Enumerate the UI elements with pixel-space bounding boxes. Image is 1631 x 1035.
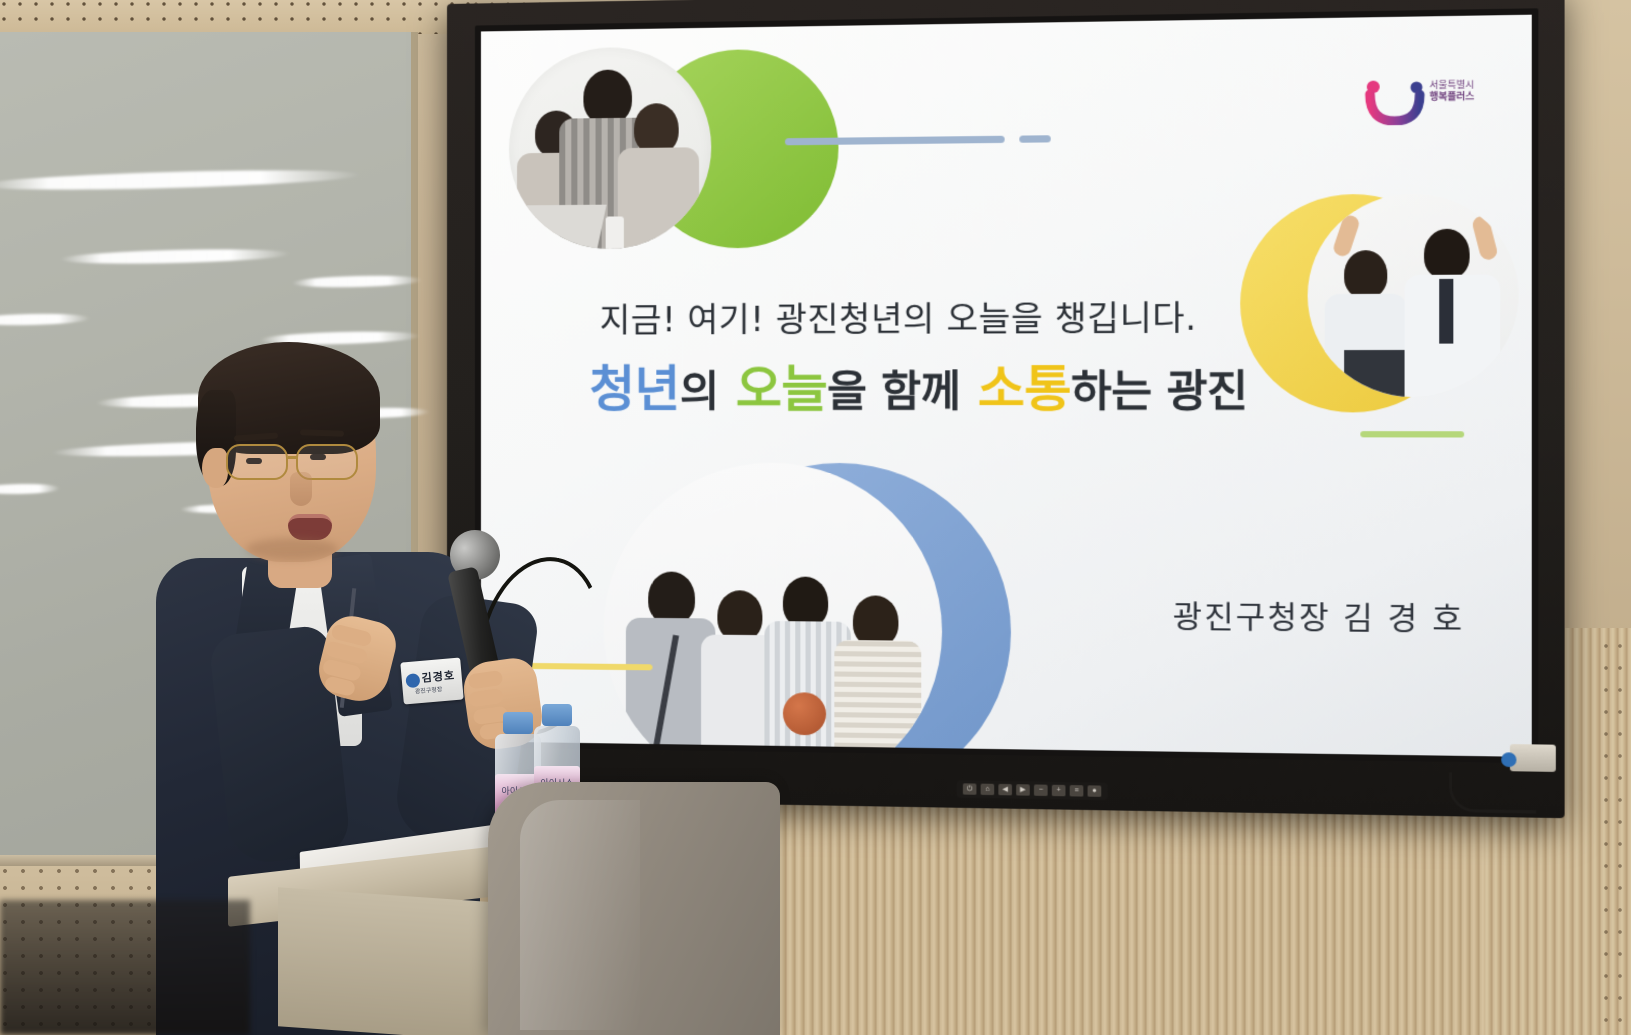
slide-title: 청년의 오늘을 함께 소통하는 광진 bbox=[589, 348, 1247, 421]
display-button-home[interactable]: ⌂ bbox=[981, 784, 995, 795]
seoul-logo: 서울특별시 행복플러스 bbox=[1365, 72, 1493, 132]
bottle-cap bbox=[542, 704, 572, 726]
photograph-scene: 서울특별시 행복플러스 지금! 여기! 광진청년의 오늘을 챙깁니다. 청년의 … bbox=[0, 0, 1631, 1035]
seoul-logo-text: 서울특별시 행복플러스 bbox=[1429, 80, 1492, 104]
attached-device bbox=[1510, 744, 1556, 772]
perforated-strip-right bbox=[1600, 640, 1631, 1035]
slide-title-part-6: 하는 광진 bbox=[1071, 366, 1248, 417]
badge-name: 김경호 bbox=[421, 667, 456, 686]
slide-title-part-2: 의 bbox=[680, 367, 719, 417]
chin-shadow bbox=[246, 538, 338, 560]
photo-circle-top-left bbox=[509, 46, 711, 250]
display-button-prev[interactable]: ◀ bbox=[998, 784, 1012, 795]
display-button-minus[interactable]: − bbox=[1034, 784, 1048, 796]
display-button-next[interactable]: ▶ bbox=[1016, 784, 1030, 795]
attached-device-indicator bbox=[1501, 752, 1516, 767]
bottle-cap bbox=[503, 712, 533, 734]
slide-title-part-4: 을 함께 bbox=[827, 366, 960, 416]
seoul-logo-line2: 행복플러스 bbox=[1429, 92, 1492, 104]
display-bezel: 서울특별시 행복플러스 지금! 여기! 광진청년의 오늘을 챙깁니다. 청년의 … bbox=[475, 8, 1538, 763]
display-button-menu[interactable]: ≡ bbox=[1070, 785, 1084, 797]
eyeglass-lens-left bbox=[226, 444, 288, 480]
display-button-power[interactable]: ⏻ bbox=[963, 783, 977, 794]
lectern-highlight bbox=[520, 800, 640, 1030]
wood-slat-panel-bottom bbox=[760, 800, 1500, 1035]
slide-title-part-5: 소통 bbox=[978, 360, 1071, 419]
eyeglass-bridge bbox=[288, 456, 298, 459]
display-button-strip[interactable]: ⏻ ⌂ ◀ ▶ − + ≡ ⏺ bbox=[957, 780, 1108, 800]
display-button-plus[interactable]: + bbox=[1052, 785, 1066, 797]
slide-title-part-3: 오늘 bbox=[736, 360, 828, 418]
seoul-logo-line1: 서울특별시 bbox=[1429, 80, 1492, 92]
presentation-slide: 서울특별시 행복플러스 지금! 여기! 광진청년의 오늘을 챙깁니다. 청년의 … bbox=[481, 15, 1532, 757]
slide-presenter-line: 광진구청장 김 경 호 bbox=[1173, 591, 1464, 639]
display-cable bbox=[1449, 772, 1536, 813]
smile-mark-icon bbox=[1365, 79, 1426, 126]
nose bbox=[290, 472, 312, 506]
mouth bbox=[288, 514, 332, 540]
dash-line-decor bbox=[785, 134, 1203, 146]
ear bbox=[202, 448, 228, 488]
name-badge: 김경호 광진구청장 bbox=[400, 657, 463, 704]
photo-circle-right bbox=[1308, 193, 1519, 397]
dash-green-decor bbox=[1360, 431, 1464, 437]
foreground-dark-blur bbox=[0, 900, 250, 1035]
badge-organization: 광진구청장 bbox=[414, 684, 442, 695]
slide-title-part-1: 청년 bbox=[589, 361, 679, 419]
acoustic-panel-top-left bbox=[0, 0, 470, 34]
wall-display[interactable]: 서울특별시 행복플러스 지금! 여기! 광진청년의 오늘을 챙깁니다. 청년의 … bbox=[447, 0, 1565, 818]
display-button-record[interactable]: ⏺ bbox=[1088, 785, 1102, 797]
slide-subtitle: 지금! 여기! 광진청년의 오늘을 챙깁니다. bbox=[600, 291, 1197, 342]
